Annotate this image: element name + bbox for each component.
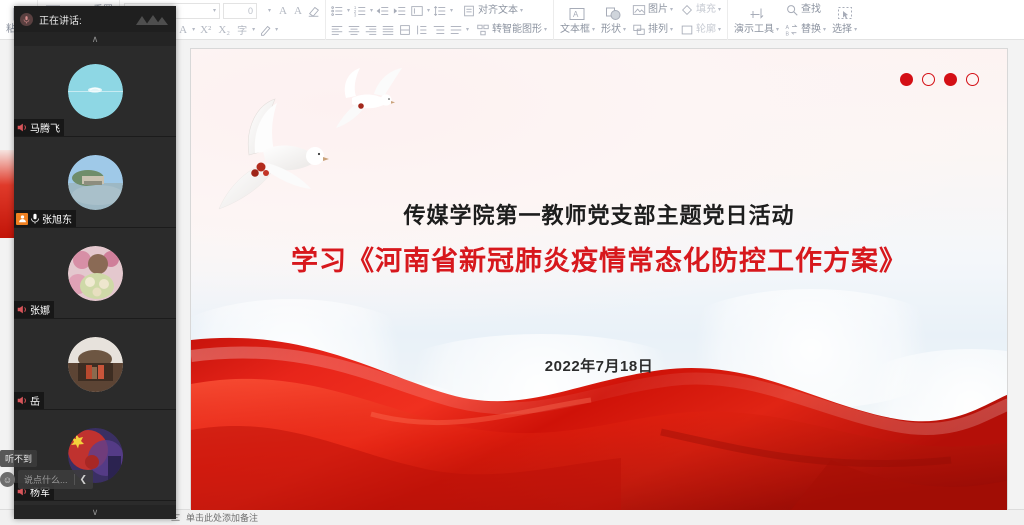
meeting-panel-header[interactable]: 正在讲话: (14, 6, 176, 32)
svg-text:A: A (785, 25, 789, 31)
textbox-icon: A (568, 5, 586, 23)
shapes-label: 形状 (601, 24, 621, 36)
char-shading-button[interactable]: 字 (235, 22, 249, 37)
scroll-up-label: ∧ (92, 34, 99, 45)
select-button[interactable]: 选择 ▾ (830, 1, 859, 39)
chevron-down-icon: ▾ (823, 24, 826, 36)
arrange-icon (632, 23, 646, 37)
avatar (68, 337, 123, 392)
chat-input-row[interactable]: ☺ 说点什么... ❮ (0, 470, 120, 489)
outline-label: 轮廓 (696, 24, 716, 36)
chat-overlay[interactable]: 听不到 ☺ 说点什么... ❮ (0, 449, 120, 489)
align-right-icon[interactable] (364, 23, 378, 37)
slide-date: 2022年7月18日 (191, 355, 1007, 376)
chevron-down-icon: ▾ (592, 24, 595, 36)
slide-title-main: 传媒学院第一教师党支部主题党日活动 (191, 201, 1007, 231)
svg-text:A: A (573, 10, 579, 19)
smartart-label: 转智能图形 (492, 24, 542, 36)
chevron-down-icon: ▾ (776, 24, 779, 36)
participant-list[interactable]: 马腾飞 (14, 46, 176, 505)
chat-input[interactable]: 说点什么... ❮ (18, 470, 93, 489)
dove-small-icon (322, 66, 414, 137)
replace-icon: A B (785, 23, 799, 37)
convert-to-smartart-button[interactable]: 转智能图形 ▾ (474, 22, 549, 38)
red-silk-ribbon (191, 310, 1008, 510)
increase-indent-icon[interactable] (393, 4, 407, 18)
chevron-down-icon: ▾ (670, 24, 673, 36)
font-color-button[interactable]: A (177, 24, 189, 36)
shrink-font-button[interactable]: A (292, 5, 304, 17)
chevron-down-icon[interactable]: ▾ (370, 7, 373, 14)
slide-title-block[interactable]: 传媒学院第一教师党支部主题党日活动 学习《河南省新冠肺炎疫情常态化防控工作方案》 (191, 201, 1007, 279)
chevron-down-icon: ▾ (520, 5, 523, 17)
participant-name: 岳 (30, 393, 40, 408)
numbered-list-icon[interactable]: 1 2 3 (353, 4, 367, 18)
list-level-icon[interactable] (449, 23, 463, 37)
chat-send-button[interactable]: ❮ (74, 474, 88, 485)
notes-placeholder: 单击此处添加备注 (186, 511, 258, 524)
fill-label: 填充 (696, 4, 716, 16)
grow-font-button[interactable]: A (277, 5, 289, 17)
chevron-down-icon: ▾ (854, 24, 857, 36)
justify-icon[interactable] (381, 23, 395, 37)
superscript-button[interactable]: X² (198, 24, 213, 36)
speaking-mic-icon (20, 13, 33, 26)
participant-name-bar: 马腾飞 (14, 119, 64, 136)
shapes-button[interactable]: 形状 ▾ (599, 1, 628, 39)
participant-tile[interactable]: 马腾飞 (14, 46, 176, 137)
distribute-icon[interactable] (398, 23, 412, 37)
participant-name-bar: 岳 (14, 392, 44, 409)
chevron-down-icon: ▾ (544, 24, 547, 36)
subscript-button[interactable]: X₂ (216, 24, 232, 36)
participant-name: 张旭东 (42, 211, 72, 226)
presentation-tools-icon (748, 5, 766, 23)
outline-icon (680, 23, 694, 37)
presentation-tools-label: 演示工具 (734, 24, 774, 36)
indent-list-icon[interactable] (432, 23, 446, 37)
ribbon-group-tools: 演示工具 ▾ 查找 (728, 0, 863, 40)
find-label: 查找 (801, 4, 821, 16)
slide-title-sub: 学习《河南省新冠肺炎疫情常态化防控工作方案》 (191, 243, 1007, 279)
scroll-up-button[interactable]: ∧ (14, 32, 176, 46)
replace-label: 替换 (801, 24, 821, 36)
bullet-list-icon[interactable] (330, 4, 344, 18)
chevron-down-icon[interactable]: ▾ (347, 7, 350, 14)
scroll-down-button[interactable]: ∨ (14, 505, 176, 519)
align-text-label: 对齐文本 (478, 5, 518, 17)
columns-icon[interactable] (415, 23, 429, 37)
font-size-select[interactable]: 0 (223, 3, 257, 19)
find-button[interactable]: 查找 (783, 2, 823, 18)
chat-input-placeholder: 说点什么... (24, 473, 68, 486)
scroll-down-label: ∨ (92, 507, 99, 518)
chevron-down-icon[interactable]: ▾ (450, 7, 453, 14)
decor-dot-3 (944, 73, 957, 86)
text-direction-icon[interactable] (410, 4, 424, 18)
host-badge-icon (16, 213, 28, 225)
highlight-pen-icon[interactable] (258, 23, 272, 37)
align-left-icon[interactable] (330, 23, 344, 37)
decor-dot-2 (922, 73, 935, 86)
ribbon-group-insert: A 文本框 ▾ 形状 ▾ (554, 0, 728, 40)
clear-format-icon[interactable] (307, 4, 321, 18)
arrange-button[interactable]: 排列 ▾ (630, 22, 675, 38)
mic-icon (30, 213, 40, 224)
participant-tile[interactable]: 岳 (14, 319, 176, 410)
textbox-label: 文本框 (560, 24, 590, 36)
replace-button[interactable]: A B 替换 ▾ (783, 22, 828, 38)
picture-button[interactable]: 图片 ▾ (630, 2, 675, 18)
presentation-tools-button[interactable]: 演示工具 ▾ (732, 1, 781, 39)
participant-tile[interactable]: 张旭东 (14, 137, 176, 228)
participant-name: 马腾飞 (30, 120, 60, 135)
chevron-down-icon[interactable]: ▾ (275, 26, 278, 33)
shapes-icon (604, 5, 622, 23)
participant-tile[interactable]: 张娜 (14, 228, 176, 319)
decor-dot-4 (966, 73, 979, 86)
speaking-label: 正在讲话: (39, 12, 82, 27)
fill-button[interactable]: 填充 ▾ (678, 2, 723, 18)
app-window: 粘贴 ▾ 版式 ▾ (0, 0, 1024, 525)
outline-button[interactable]: 轮廓 ▾ (678, 22, 723, 38)
align-text-button[interactable]: 对齐文本 ▾ (460, 3, 525, 19)
svg-text:3: 3 (354, 12, 357, 17)
svg-text:B: B (785, 31, 789, 37)
avatar (68, 64, 123, 119)
chat-last-message: 听不到 (0, 450, 37, 467)
chevron-down-icon: ▾ (718, 24, 721, 36)
chevron-down-icon: ▾ (213, 7, 216, 14)
chevron-down-icon: ▾ (718, 4, 721, 16)
search-icon (785, 3, 799, 17)
line-spacing-icon[interactable] (433, 4, 447, 18)
chevron-down-icon: ▾ (623, 24, 626, 36)
chevron-down-icon: ▾ (670, 4, 673, 16)
chevron-down-icon: ▾ (268, 7, 271, 14)
participant-name: 张娜 (30, 302, 50, 317)
chevron-down-icon[interactable]: ▾ (192, 26, 195, 33)
speaker-icon (16, 304, 28, 315)
chevron-down-icon[interactable]: ▾ (466, 26, 469, 33)
speaker-icon (16, 122, 28, 133)
chevron-down-icon[interactable]: ▾ (427, 7, 430, 14)
font-size-caret[interactable]: ▾ (260, 3, 274, 19)
align-center-icon[interactable] (347, 23, 361, 37)
picture-icon (632, 3, 646, 17)
textbox-button[interactable]: A 文本框 ▾ (558, 1, 597, 39)
decor-dot-1 (900, 73, 913, 86)
arrange-label: 排列 (648, 24, 668, 36)
participant-name-bar: 张旭东 (14, 210, 76, 227)
speaker-icon (16, 395, 28, 406)
meeting-video-panel[interactable]: 正在讲话: ∧ (14, 6, 176, 519)
smartart-icon (476, 23, 490, 37)
select-icon (836, 5, 854, 23)
participant-name-bar: 张娜 (14, 301, 54, 318)
decor-dots (900, 73, 979, 86)
decrease-indent-icon[interactable] (376, 4, 390, 18)
audio-wave-icon (134, 13, 168, 27)
emoji-icon[interactable]: ☺ (0, 472, 15, 487)
picture-label: 图片 (648, 4, 668, 16)
ribbon-group-paragraph: ▾ 1 2 3 ▾ (326, 0, 554, 40)
select-label: 选择 (832, 24, 852, 36)
fill-icon (680, 3, 694, 17)
chevron-down-icon[interactable]: ▾ (252, 26, 255, 33)
align-text-icon (462, 4, 476, 18)
avatar (68, 246, 123, 301)
font-size-value: 0 (248, 6, 253, 16)
slide-canvas[interactable]: 传媒学院第一教师党支部主题党日活动 学习《河南省新冠肺炎疫情常态化防控工作方案》… (190, 48, 1008, 511)
avatar (68, 155, 123, 210)
